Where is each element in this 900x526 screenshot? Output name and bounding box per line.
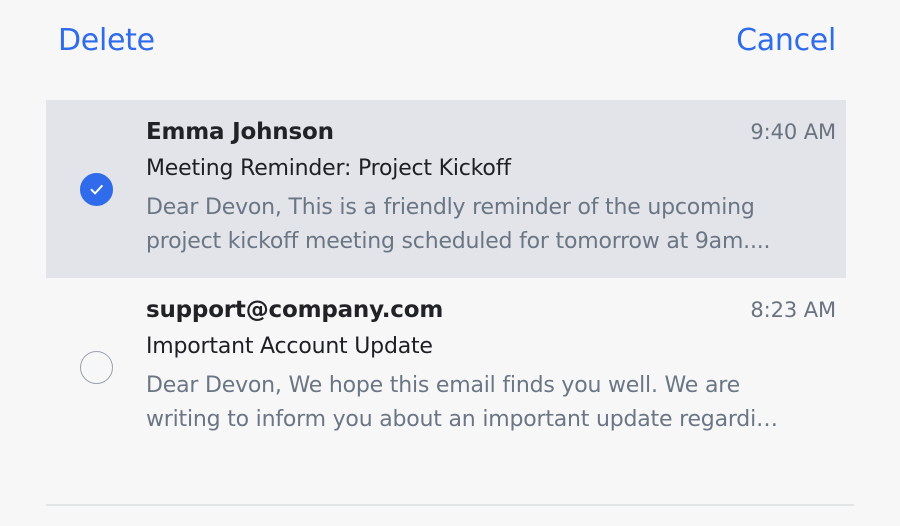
- message-timestamp: 8:23 AM: [750, 298, 836, 322]
- message-row[interactable]: Emma Johnson 9:40 AM Meeting Reminder: P…: [46, 100, 846, 278]
- cancel-button[interactable]: Cancel: [736, 26, 836, 56]
- list-bottom-divider: [46, 504, 854, 506]
- message-content: support@company.com 8:23 AM Important Ac…: [146, 296, 846, 436]
- message-sender: support@company.com: [146, 296, 443, 325]
- message-sender: Emma Johnson: [146, 118, 334, 147]
- message-list: Emma Johnson 9:40 AM Meeting Reminder: P…: [0, 100, 900, 456]
- message-select-control[interactable]: [46, 296, 146, 436]
- circle-outline-icon[interactable]: [80, 351, 113, 384]
- check-circle-filled-icon[interactable]: [80, 173, 113, 206]
- message-select-control[interactable]: [46, 118, 146, 258]
- message-row[interactable]: support@company.com 8:23 AM Important Ac…: [46, 278, 846, 456]
- action-bar: Delete Cancel: [0, 0, 900, 82]
- mail-selection-screen: Delete Cancel Emma Johnson 9:40 AM Meeti…: [0, 0, 900, 526]
- message-header: Emma Johnson 9:40 AM: [146, 118, 836, 147]
- message-subject: Meeting Reminder: Project Kickoff: [146, 155, 836, 182]
- message-timestamp: 9:40 AM: [750, 120, 836, 144]
- message-preview: Dear Devon, This is a friendly reminder …: [146, 191, 818, 258]
- message-header: support@company.com 8:23 AM: [146, 296, 836, 325]
- message-subject: Important Account Update: [146, 333, 836, 360]
- message-content: Emma Johnson 9:40 AM Meeting Reminder: P…: [146, 118, 846, 258]
- delete-button[interactable]: Delete: [58, 26, 155, 56]
- message-preview: Dear Devon, We hope this email finds you…: [146, 369, 818, 436]
